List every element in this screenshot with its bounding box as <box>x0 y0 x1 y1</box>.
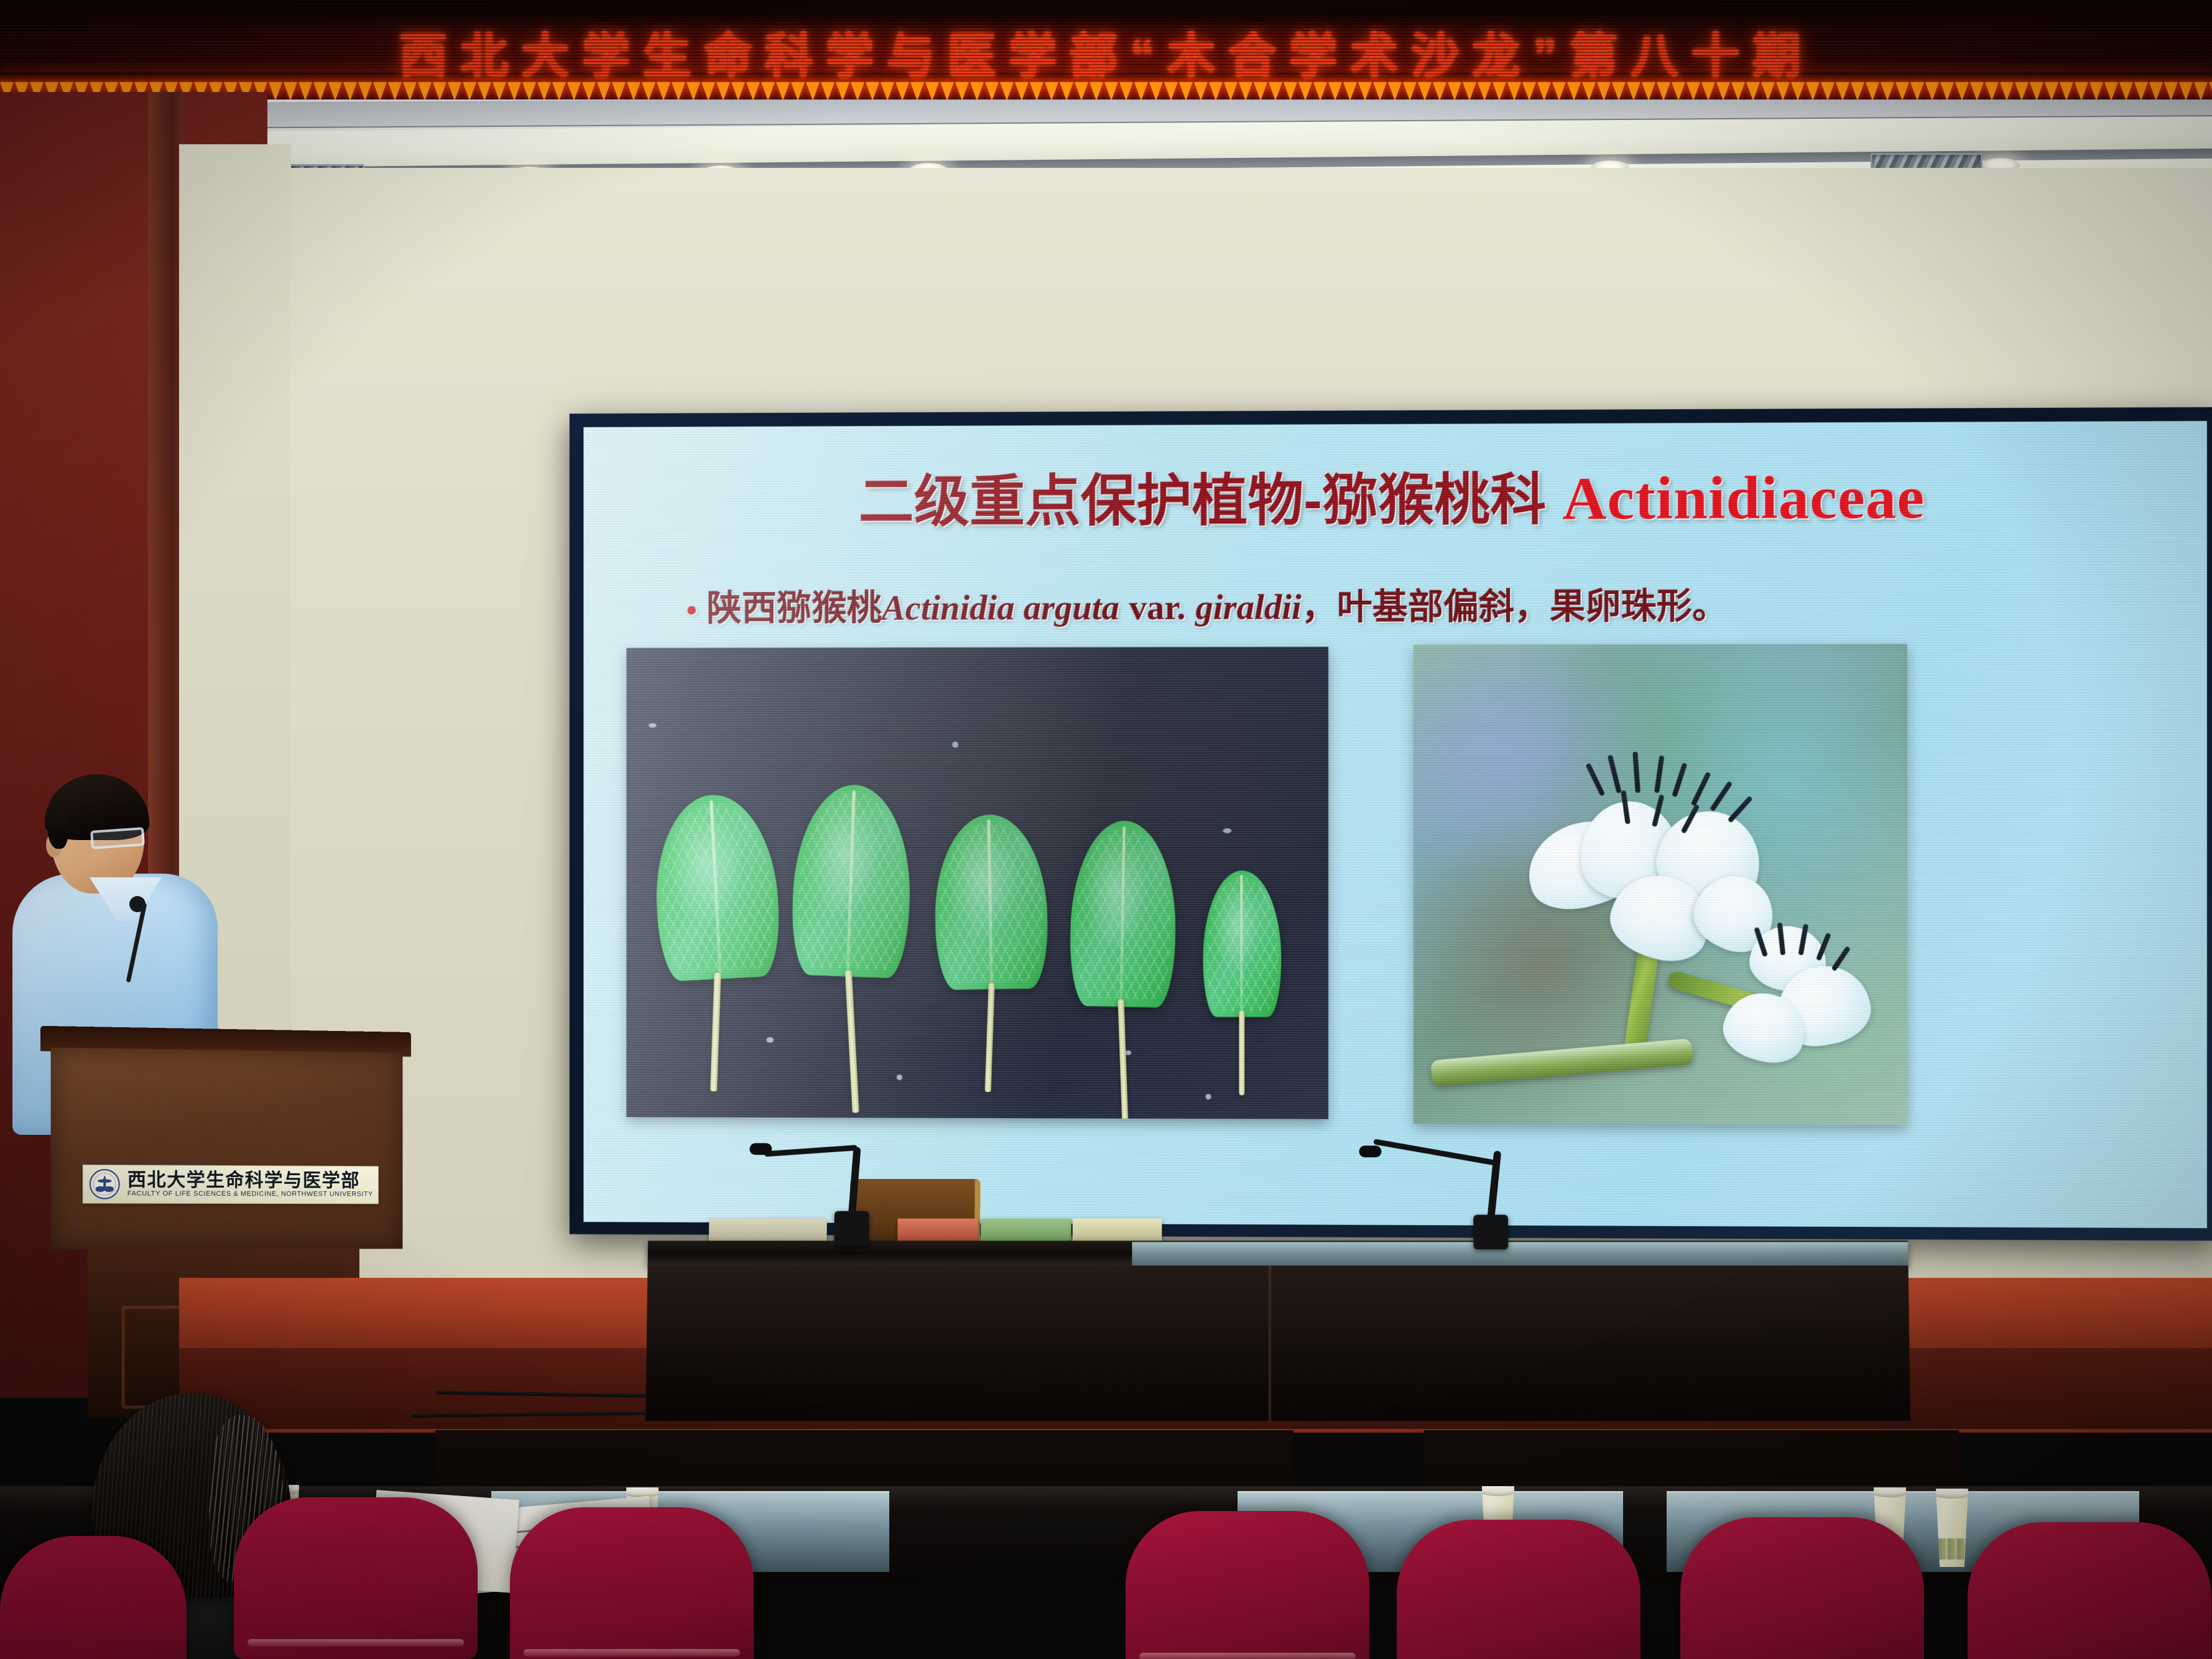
plaque-text-en: FACULTY OF LIFE SCIENCES & MEDICINE, NOR… <box>127 1191 373 1199</box>
auditorium-chair <box>1126 1511 1369 1659</box>
auditorium-chair <box>1680 1517 1924 1659</box>
auditorium-chair <box>0 1536 187 1659</box>
microphone-capsule-icon <box>749 1143 772 1155</box>
slide-photo-flower <box>1414 644 1907 1125</box>
gooseneck-microphone-base <box>1473 1215 1508 1250</box>
slide-title: 二级重点保护植物-猕猴桃科Actinidiaceae <box>583 463 2207 535</box>
university-seal-icon <box>90 1169 120 1199</box>
plaque-text-cn: 西北大学生命科学与医学部 <box>127 1171 373 1191</box>
table-book <box>981 1219 1071 1242</box>
bullet-rank: var. <box>1129 588 1186 627</box>
auditorium-chair <box>1397 1520 1640 1659</box>
auditorium-chair <box>234 1497 478 1659</box>
table-seam <box>1269 1265 1271 1421</box>
bullet-cn-tail: ，叶基部偏斜，果卵珠形。 <box>1302 586 1728 627</box>
table-book <box>897 1219 978 1242</box>
table-document <box>709 1219 827 1242</box>
presenter-table <box>646 1241 1910 1421</box>
slide-photo-leaves <box>626 647 1328 1119</box>
gooseneck-microphone-base <box>834 1211 869 1246</box>
bullet-variety: giraldii <box>1195 588 1302 627</box>
table-glass-top <box>1132 1242 1908 1265</box>
slide-title-latin: Actinidiaceae <box>1546 464 1925 532</box>
led-banner-top-crop <box>0 0 2212 29</box>
eyeglasses-icon <box>90 827 145 849</box>
projection-screen: 二级重点保护植物-猕猴桃科Actinidiaceae •陕西猕猴桃Actinid… <box>583 421 2207 1228</box>
slide-bullet: •陕西猕猴桃Actinidia arguta var. giraldii，叶基部… <box>687 576 2193 631</box>
bullet-cn-lead: 陕西猕猴桃 <box>706 588 882 628</box>
auditorium-chair <box>1968 1522 2211 1659</box>
microphone-capsule-icon <box>1359 1145 1381 1157</box>
slide-title-cn: 二级重点保护植物-猕猴桃科 <box>859 469 1547 533</box>
led-trim-teeth <box>0 82 2212 99</box>
table-book <box>1073 1219 1162 1242</box>
projection-screen-bezel: 二级重点保护植物-猕猴桃科Actinidiaceae •陕西猕猴桃Actinid… <box>570 407 2212 1241</box>
led-banner: 西北大学生命科学与医学部“木合学术沙龙”第八十期 <box>0 0 2212 99</box>
lecture-hall-photo: 西北大学生命科学与医学部“木合学术沙龙”第八十期 二级重点保护植物-猕猴桃科Ac… <box>0 0 2212 1659</box>
auditorium-chair <box>510 1507 754 1659</box>
lectern-plaque: 西北大学生命科学与医学部 FACULTY OF LIFE SCIENCES & … <box>83 1165 379 1204</box>
lectern-front-panel: 西北大学生命科学与医学部 FACULTY OF LIFE SCIENCES & … <box>51 1048 403 1250</box>
bullet-species-name: Actinidia arguta <box>882 588 1119 628</box>
bullet-marker: • <box>687 594 706 627</box>
table-front-panel <box>646 1265 1910 1421</box>
